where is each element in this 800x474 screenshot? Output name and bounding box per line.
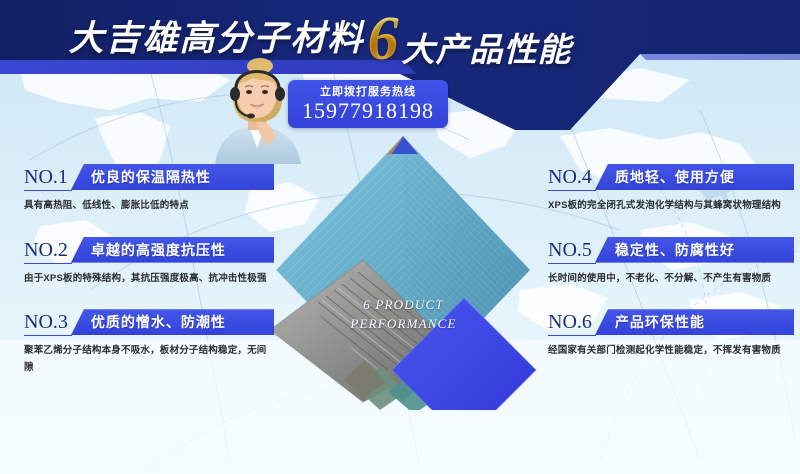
- feature-3-head: NO.3 优质的憎水、防潮性: [24, 309, 274, 336]
- feature-4-description: XPS板的完全闭孔式发泡化学结构与其蜂窝状物理结构: [548, 198, 794, 215]
- feature-3-number: NO.3: [24, 309, 72, 336]
- feature-1-head: NO.1 优良的保温隔热性: [24, 164, 274, 191]
- feature-1-description: 具有高热阻、低线性、膨胀比低的特点: [24, 198, 274, 215]
- feature-2-title: 卓越的高强度抗压性: [91, 240, 226, 260]
- feature-4-title: 质地轻、使用方便: [615, 167, 735, 187]
- feature-column-right: NO.4 质地轻、使用方便 XPS板的完全闭孔式发泡化学结构与其蜂窝状物理结构 …: [548, 164, 794, 382]
- feature-4-number: NO.4: [548, 164, 596, 191]
- feature-item-3: NO.3 优质的憎水、防潮性 聚苯乙烯分子结构本身不吸水，板材分子结构稳定，无间…: [24, 309, 274, 376]
- feature-item-4: NO.4 质地轻、使用方便 XPS板的完全闭孔式发泡化学结构与其蜂窝状物理结构: [548, 164, 794, 215]
- feature-item-6: NO.6 产品环保性能 经国家有关部门检测起化学性能稳定，不挥发有害物质: [548, 309, 794, 360]
- feature-6-description: 经国家有关部门检测起化学性能稳定，不挥发有害物质: [548, 343, 794, 360]
- feature-1-title: 优良的保温隔热性: [91, 167, 211, 187]
- feature-column-left: NO.1 优良的保温隔热性 具有高热阻、低线性、膨胀比低的特点 NO.2 卓越的…: [24, 164, 274, 399]
- hotline-badge[interactable]: 立即拨打服务热线 15977918198: [288, 80, 448, 128]
- center-diamond-artwork: [268, 130, 538, 410]
- feature-6-head: NO.6 产品环保性能: [548, 309, 794, 336]
- feature-6-title-bar[interactable]: 产品环保性能: [595, 309, 794, 335]
- feature-5-title: 稳定性、防腐性好: [615, 240, 735, 260]
- feature-5-title-bar[interactable]: 稳定性、防腐性好: [595, 237, 794, 263]
- feature-item-5: NO.5 稳定性、防腐性好 长时间的使用中，不老化、不分解、不产生有害物质: [548, 237, 794, 288]
- hotline-label: 立即拨打服务热线: [320, 87, 416, 98]
- feature-2-head: NO.2 卓越的高强度抗压性: [24, 237, 274, 264]
- feature-item-1: NO.1 优良的保温隔热性 具有高热阻、低线性、膨胀比低的特点: [24, 164, 274, 215]
- feature-item-2: NO.2 卓越的高强度抗压性 由于XPS板的特殊结构，其抗压强度极高、抗冲击性极…: [24, 237, 274, 288]
- hotline-number: 15977918198: [302, 100, 434, 122]
- feature-2-title-bar[interactable]: 卓越的高强度抗压性: [71, 237, 274, 263]
- feature-3-title: 优质的憎水、防潮性: [91, 312, 226, 332]
- feature-5-head: NO.5 稳定性、防腐性好: [548, 237, 794, 264]
- feature-1-number: NO.1: [24, 164, 72, 191]
- promo-banner: 大吉雄高分子材料 6 大产品性能: [0, 0, 800, 474]
- feature-5-description: 长时间的使用中，不老化、不分解、不产生有害物质: [548, 271, 794, 288]
- feature-4-title-bar[interactable]: 质地轻、使用方便: [595, 164, 794, 190]
- feature-1-title-bar[interactable]: 优良的保温隔热性: [71, 164, 274, 190]
- feature-5-number: NO.5: [548, 237, 596, 264]
- feature-3-title-bar[interactable]: 优质的憎水、防潮性: [71, 309, 274, 335]
- feature-6-number: NO.6: [548, 309, 596, 336]
- feature-6-title: 产品环保性能: [615, 312, 705, 332]
- feature-4-head: NO.4 质地轻、使用方便: [548, 164, 794, 191]
- feature-2-description: 由于XPS板的特殊结构，其抗压强度极高、抗冲击性极强: [24, 271, 274, 288]
- feature-3-description: 聚苯乙烯分子结构本身不吸水，板材分子结构稳定，无间隙: [24, 343, 274, 376]
- feature-2-number: NO.2: [24, 237, 72, 264]
